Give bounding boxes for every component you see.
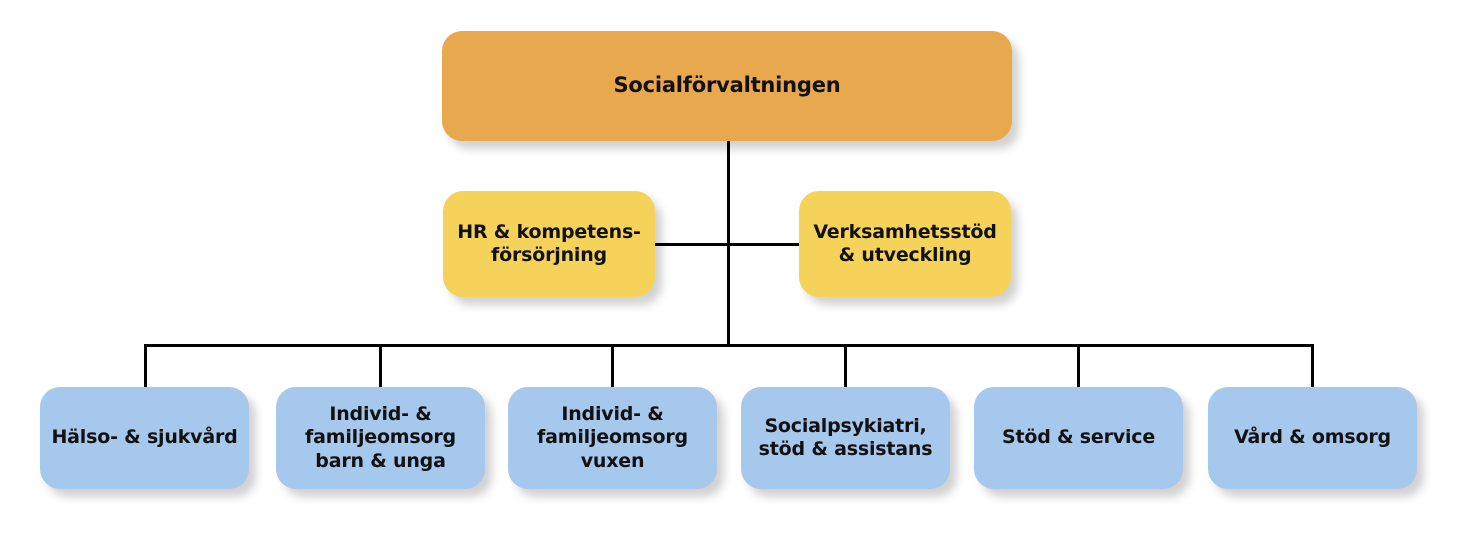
org-chart: Socialförvaltningen HR & kompetens- förs… [0,0,1460,538]
connector-drop-vard-omsorg [1311,344,1314,389]
connector-drop-ifo-barn [379,344,382,389]
connector-unit-bus [145,344,1314,347]
connector-drop-socialpsykiatri [844,344,847,389]
connector-drop-ifo-vuxen [611,344,614,389]
connector-drop-halso [144,344,147,389]
connector-staff-crossbar [655,243,800,246]
node-individ-familjeomsorg-vuxen[interactable]: Individ- & familjeomsorg vuxen [508,387,717,489]
node-individ-familjeomsorg-barn-unga[interactable]: Individ- & familjeomsorg barn & unga [276,387,485,489]
node-verksamhetsstod-utveckling[interactable]: Verksamhetsstöd & utveckling [799,191,1011,297]
node-socialforvaltningen[interactable]: Socialförvaltningen [442,31,1012,141]
node-stod-service[interactable]: Stöd & service [974,387,1183,489]
node-vard-omsorg[interactable]: Vård & omsorg [1208,387,1417,489]
node-socialpsykiatri-stod-assistans[interactable]: Socialpsykiatri, stöd & assistans [741,387,950,489]
node-hr-kompetensforsorjning[interactable]: HR & kompetens- försörjning [443,191,655,297]
connector-drop-stod-service [1077,344,1080,389]
node-halso-sjukvard[interactable]: Hälso- & sjukvård [40,387,249,489]
